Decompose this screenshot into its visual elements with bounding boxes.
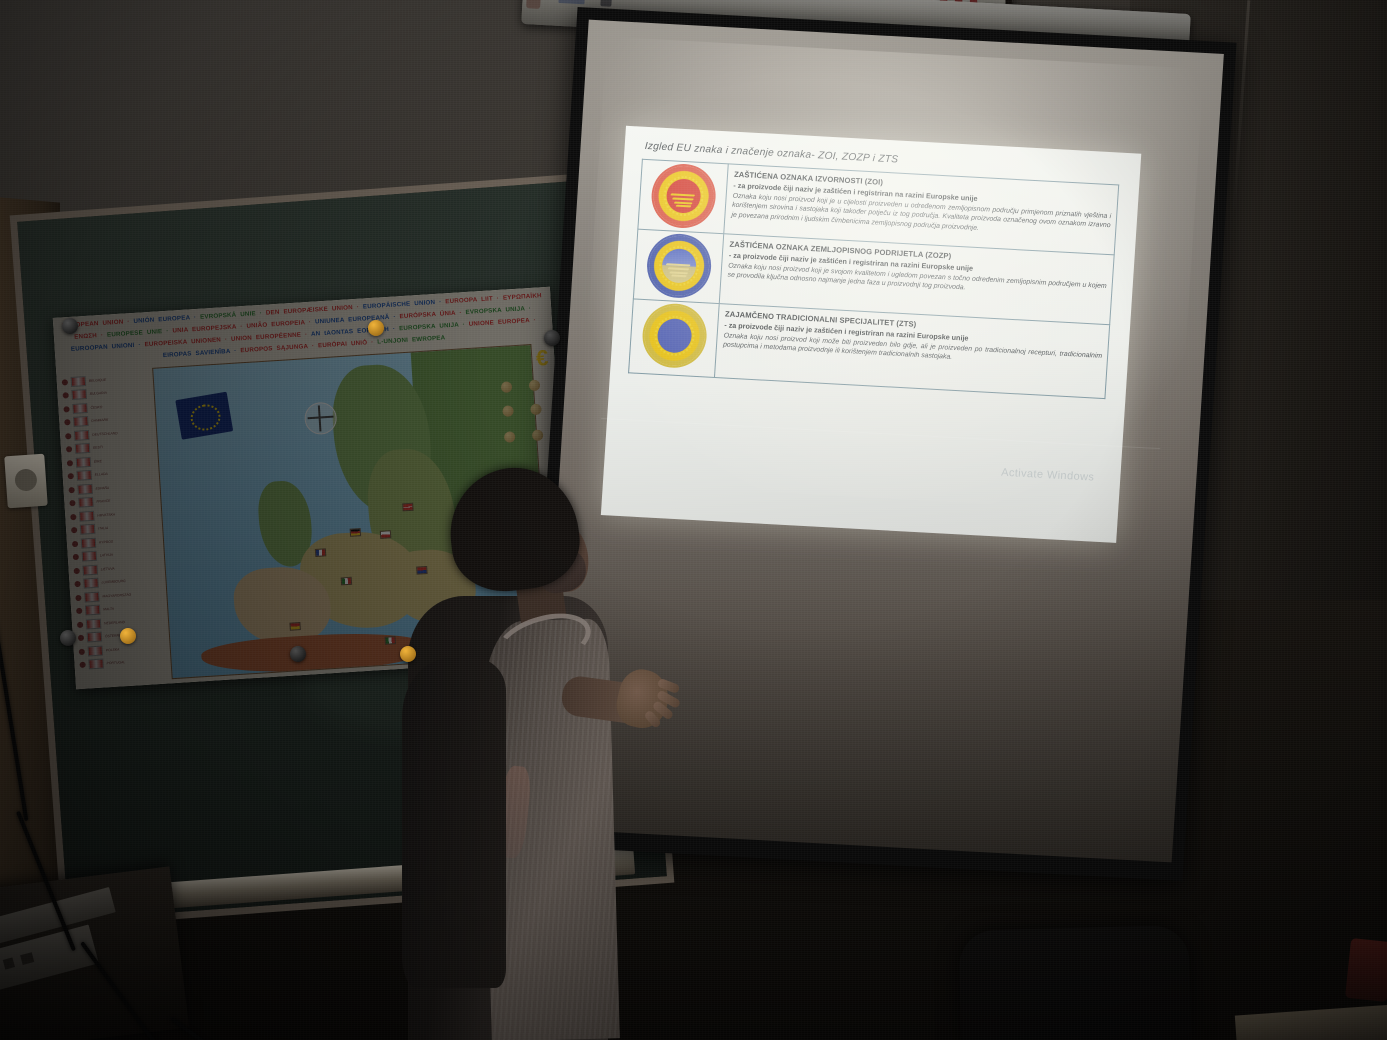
power-socket — [4, 454, 48, 509]
magnet — [290, 646, 306, 662]
poster-country-flag-list: BELGIQUE BULGARIA ČESKO DANMARK DEUTSCHL… — [61, 370, 168, 683]
person-sleeve — [402, 658, 506, 988]
magnet — [368, 320, 384, 336]
classroom-desk — [0, 866, 189, 1040]
magnet — [120, 628, 136, 644]
magnet — [62, 318, 78, 334]
magnet — [60, 630, 76, 646]
eu-marks-table: ZAŠTIĆENA OZNAKA IZVORNOSTI (ZOI) - za p… — [628, 159, 1119, 399]
magnet — [400, 646, 416, 662]
office-chair — [958, 925, 1191, 1040]
magnet — [544, 330, 560, 346]
eu-flag-illustration — [175, 392, 233, 440]
red-object — [1345, 938, 1387, 1002]
activate-windows-watermark: Activate Windows — [1001, 467, 1095, 484]
pdo-zoi-logo — [652, 164, 716, 227]
pgi-zozp-logo-cell — [633, 229, 723, 304]
student-presenter — [390, 468, 690, 1040]
euro-currency-symbol: € — [535, 345, 549, 372]
pdo-zoi-logo-cell — [638, 159, 728, 234]
pgi-zozp-logo — [647, 234, 711, 297]
person-hand — [612, 665, 674, 733]
tsg-zts-logo — [643, 304, 707, 367]
tsg-zts-logo-cell — [629, 299, 720, 377]
classroom-photo-scene: EUROPEAN UNION · UNIÓN EUROPEA · EVROPSK… — [0, 0, 1387, 1040]
